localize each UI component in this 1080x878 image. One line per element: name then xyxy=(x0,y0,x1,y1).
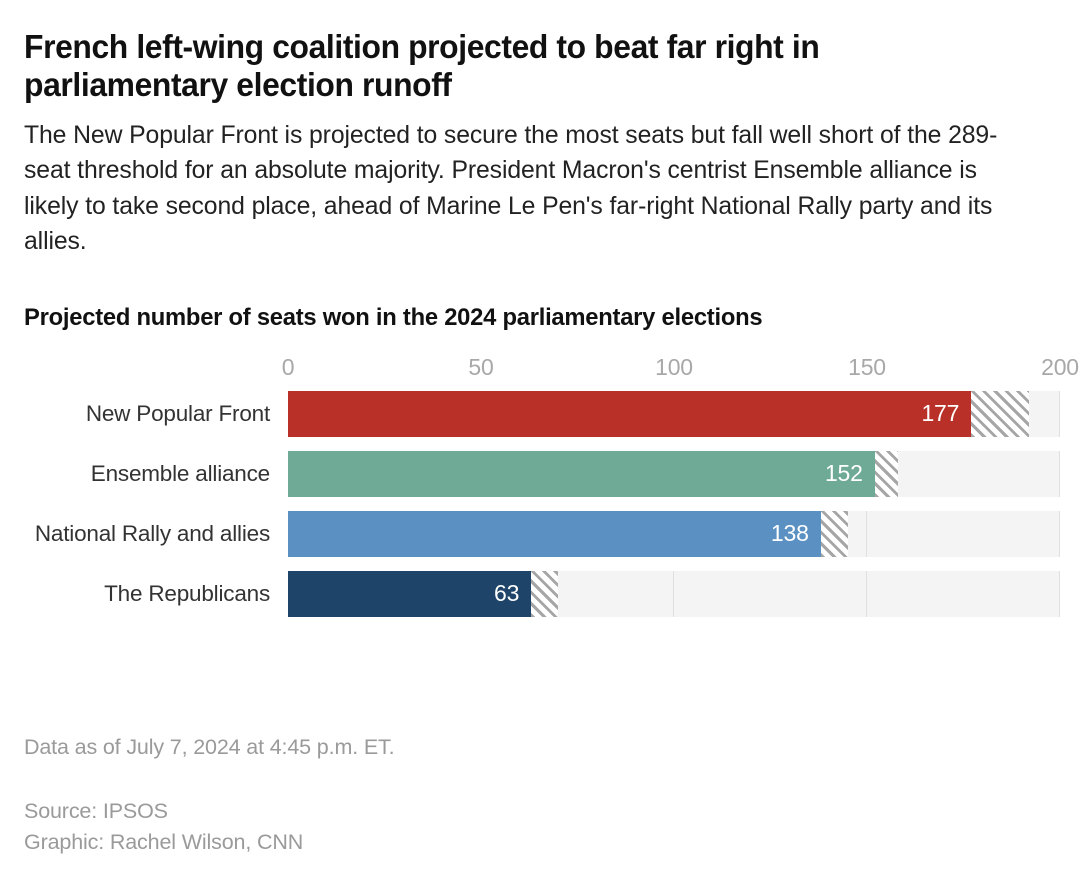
source-line: Source: IPSOS xyxy=(24,799,168,823)
gridline-150 xyxy=(866,571,867,617)
uncertainty-range-band xyxy=(875,451,898,497)
bar-chart: 050100150200 New Popular Front177Ensembl… xyxy=(24,354,1056,639)
chart-credits: Source: IPSOS Graphic: Rachel Wilson, CN… xyxy=(24,760,394,858)
bar-track: 177 xyxy=(288,391,1060,437)
bar[interactable]: 177 xyxy=(288,391,971,437)
gridline-200 xyxy=(1059,511,1060,557)
bar-category-label: The Republicans xyxy=(24,564,288,624)
x-axis-tick-100: 100 xyxy=(655,354,693,381)
x-axis-tick-0: 0 xyxy=(282,354,295,381)
bar-row: New Popular Front177 xyxy=(24,384,1056,444)
x-axis-tick-150: 150 xyxy=(848,354,886,381)
chart-footer: Data as of July 7, 2024 at 4:45 p.m. ET.… xyxy=(24,735,394,858)
bar-category-label: New Popular Front xyxy=(24,384,288,444)
bar-value-label: 152 xyxy=(825,460,875,487)
x-axis-tick-200: 200 xyxy=(1041,354,1079,381)
bar-track: 152 xyxy=(288,451,1060,497)
bar[interactable]: 152 xyxy=(288,451,875,497)
chart-title: Projected number of seats won in the 202… xyxy=(24,260,1025,332)
bar-value-label: 63 xyxy=(494,580,531,607)
data-as-of-note: Data as of July 7, 2024 at 4:45 p.m. ET. xyxy=(24,735,394,760)
bar-value-label: 177 xyxy=(921,400,971,427)
plot-area: New Popular Front177Ensemble alliance152… xyxy=(24,384,1056,630)
page-dek: The New Popular Front is projected to se… xyxy=(24,105,1034,260)
bar-row: Ensemble alliance152 xyxy=(24,444,1056,504)
page-headline: French left-wing coalition projected to … xyxy=(24,0,950,105)
bar-row: National Rally and allies138 xyxy=(24,504,1056,564)
gridline-200 xyxy=(1059,391,1060,437)
uncertainty-range-band xyxy=(971,391,1029,437)
graphic-credit-line: Graphic: Rachel Wilson, CNN xyxy=(24,830,303,854)
uncertainty-range-band xyxy=(821,511,848,557)
uncertainty-range-band xyxy=(531,571,558,617)
bar-row: The Republicans63 xyxy=(24,564,1056,624)
x-axis-tick-50: 50 xyxy=(468,354,493,381)
gridline-150 xyxy=(866,511,867,557)
gridline-200 xyxy=(1059,451,1060,497)
x-axis: 050100150200 xyxy=(288,354,1060,384)
gridline-200 xyxy=(1059,571,1060,617)
bar[interactable]: 63 xyxy=(288,571,531,617)
bar-value-label: 138 xyxy=(771,520,821,547)
bar-track: 63 xyxy=(288,571,1060,617)
bar-category-label: Ensemble alliance xyxy=(24,444,288,504)
bar-category-label: National Rally and allies xyxy=(24,504,288,564)
infographic-page: French left-wing coalition projected to … xyxy=(0,0,1080,878)
bar[interactable]: 138 xyxy=(288,511,821,557)
gridline-100 xyxy=(673,571,674,617)
bar-track: 138 xyxy=(288,511,1060,557)
